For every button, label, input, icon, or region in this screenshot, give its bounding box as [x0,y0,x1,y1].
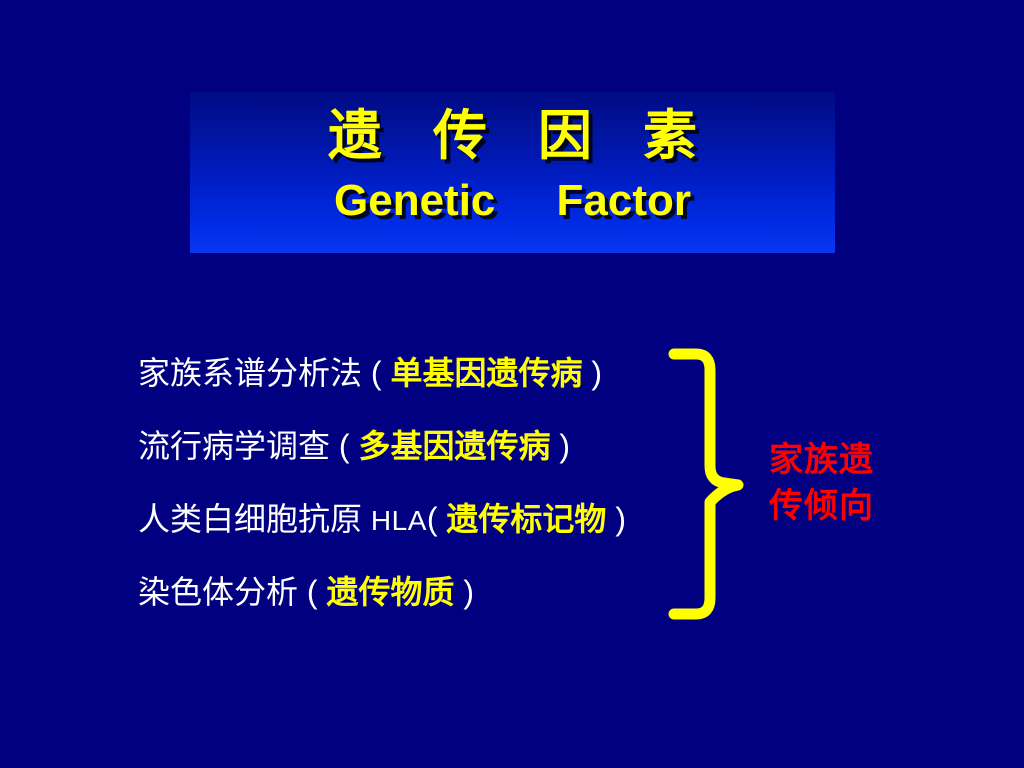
body-line-2: 流行病学调查 ( 多基因遗传病 ) [138,421,758,494]
title-english: Genetic Factor [190,178,835,224]
body-bullet-list: 家族系谱分析法 ( 单基因遗传病 ) 流行病学调查 ( 多基因遗传病 ) 人类白… [138,348,758,640]
body-line-3-trail: ) [615,501,626,537]
body-line-3: 人类白细胞抗原 HLA( 遗传标记物 ) [138,494,758,567]
body-line-4-trail: ) [463,574,474,610]
body-line-3-latin: HLA [371,505,427,536]
title-banner: 遗 传 因 素 Genetic Factor [190,92,835,253]
callout-red-text: 家族遗 传倾向 [769,437,929,529]
callout-line-1: 家族遗 [769,437,929,483]
slide-canvas: 遗 传 因 素 Genetic Factor 家族系谱分析法 ( 单基因遗传病 … [0,0,1024,768]
callout-line-2: 传倾向 [769,483,929,529]
body-line-3-mid: ( [427,501,438,537]
body-line-1-trail: ) [591,355,602,391]
body-line-4: 染色体分析 ( 遗传物质 ) [138,567,758,640]
body-line-4-lead: 染色体分析 ( [138,574,318,610]
body-line-3-lead: 人类白细胞抗原 [138,501,371,537]
body-line-1: 家族系谱分析法 ( 单基因遗传病 ) [138,348,758,421]
body-line-1-highlight: 单基因遗传病 [382,355,592,391]
body-line-3-highlight: 遗传标记物 [438,501,616,537]
body-line-4-highlight: 遗传物质 [318,574,464,610]
body-line-2-lead: 流行病学调查 ( [138,428,350,464]
title-chinese: 遗 传 因 素 [190,108,835,165]
body-line-1-lead: 家族系谱分析法 ( [138,355,382,391]
body-line-2-trail: ) [559,428,570,464]
body-line-2-highlight: 多基因遗传病 [350,428,560,464]
